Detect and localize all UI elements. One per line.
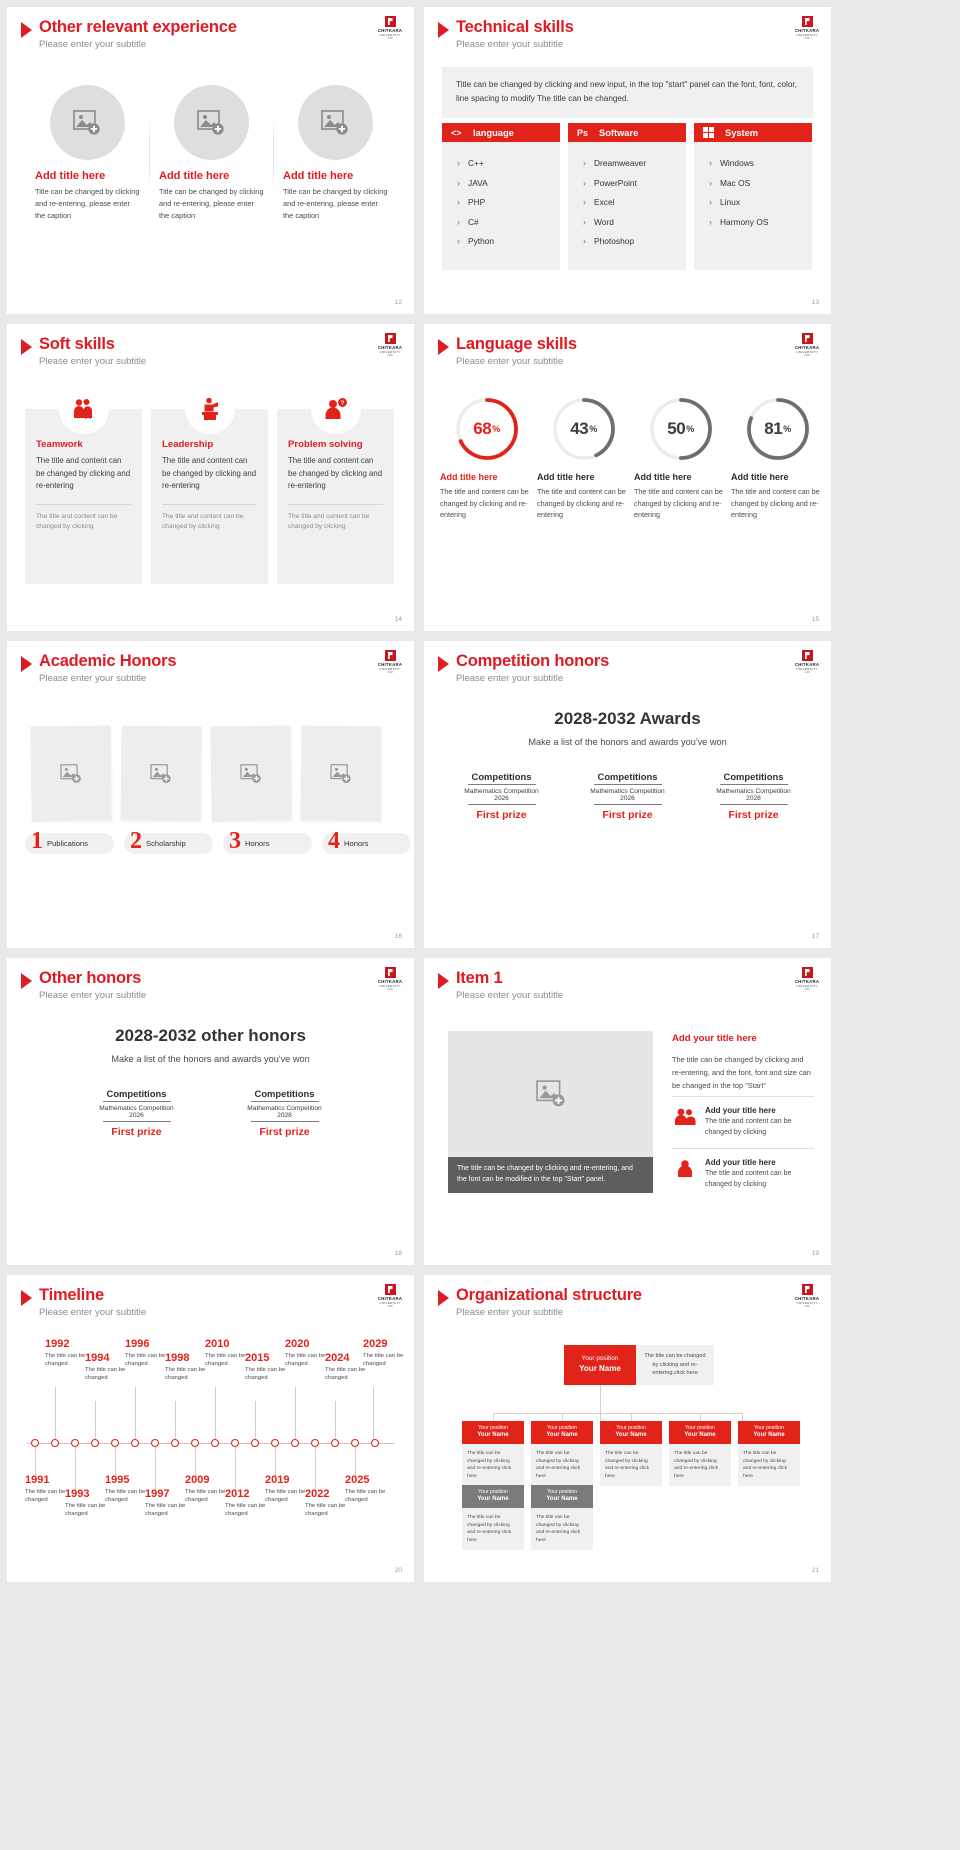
intro-note: Title can be changed by clicking and new… [442,67,813,118]
leadership-icon [188,387,232,431]
award-wreaths: Competitions Mathematics Competition 202… [7,1084,414,1138]
slide-header: Academic Honors Please enter your subtit… [21,652,176,684]
soft-skill-card[interactable]: ? Problem solving The title and content … [277,409,394,584]
divider [251,1101,319,1102]
image-placeholder-icon [321,110,349,136]
slide-item-1[interactable]: Item 1 Please enter your subtitle CHITKA… [424,958,831,1265]
slide-header: Technical skills Please enter your subti… [438,18,574,50]
list-item[interactable]: Word [568,213,686,233]
card-body: The title and content can be changed by … [288,455,383,493]
item-heading: Add title here [537,472,630,482]
svg-text:?: ? [340,401,344,407]
page-number: 12 [395,299,402,306]
logo-line-3: 1998 [377,671,403,674]
org-card[interactable]: Your positionYour Name The title can be … [669,1421,731,1486]
language-item[interactable]: 50% Add title here The title and content… [634,396,727,521]
donut-chart: 68% [454,396,520,462]
org-name: Your Name [546,1496,577,1504]
experience-columns: Add title here Title can be changed by c… [25,85,397,222]
honor-text: Honors [344,839,368,848]
logo-line-3: 1998 [794,37,820,40]
slide-soft-skills[interactable]: Soft skills Please enter your subtitle C… [7,324,414,631]
divider [594,784,662,785]
list-item[interactable]: Mac OS [694,174,812,194]
photo-placeholder[interactable] [298,85,373,160]
page-subtitle: Please enter your subtitle [39,39,237,50]
competition-year: 2028 [226,1112,344,1119]
list-item-desc: The title and content can be changed by … [705,1117,814,1139]
image-placeholder-icon [150,763,172,783]
honor-text: Publications [47,839,88,848]
list-item[interactable]: PHP [442,193,560,213]
page-subtitle: Please enter your subtitle [456,673,609,684]
item-heading: Add title here [731,472,824,482]
university-logo: CHITKARA UNIVERSITY 1998 [377,967,403,991]
language-item[interactable]: 68% Add title here The title and content… [440,396,533,521]
list-item[interactable]: Linux [694,193,812,213]
skill-group-language[interactable]: <> language C++ JAVA PHP C# Python [442,123,560,270]
page-subtitle: Please enter your subtitle [456,1307,642,1318]
logo-line-3: 1998 [377,37,403,40]
divider [594,804,662,805]
divider [36,504,131,505]
arrow-bullet-icon [438,973,449,989]
list-item-title: Add your title here [705,1158,814,1167]
logo-line-3: 1998 [377,1305,403,1308]
list-item-desc: The title and content can be changed by … [705,1169,814,1191]
org-card-header: Your positionYour Name [462,1421,524,1444]
logo-mark-icon [385,16,396,27]
honor-label[interactable]: 2 Scholarship [124,833,213,854]
photo-placeholder[interactable] [210,726,291,822]
donut-chart: 50% [648,396,714,462]
org-position: Your position [547,1489,577,1496]
competition-meta: Mathematics Competition [78,1105,196,1112]
side-body: The title can be changed by clicking and… [672,1054,814,1093]
list-item-title: Add your title here [705,1106,814,1115]
org-level-2: Your positionYour Name The title can be … [462,1485,593,1550]
competition-name: Competitions [695,771,813,782]
logo-mark-icon [802,1284,813,1295]
org-card-body: The title can be changed by clicking and… [462,1444,524,1486]
logo-mark-icon [802,967,813,978]
prize-label: First prize [226,1126,344,1138]
org-name: Your Name [615,1432,646,1440]
honor-number: 3 [229,829,241,853]
divider [720,784,788,785]
image-placeholder-icon [330,763,352,783]
competition-year: 2028 [695,795,813,802]
column-body: Title can be changed by clicking and re-… [283,186,389,222]
logo-line-3: 1998 [794,671,820,674]
divider [251,1121,319,1122]
side-heading: Add your title here [672,1033,757,1044]
image-caption: The title can be changed by clicking and… [448,1157,653,1193]
page-number: 15 [812,616,819,623]
logo-mark-icon [802,16,813,27]
university-logo: CHITKARA UNIVERSITY 1998 [794,650,820,674]
arrow-bullet-icon [21,22,32,38]
windows-icon [703,127,725,138]
item-heading: Add title here [440,472,533,482]
competition-meta: Mathematics Competition [226,1105,344,1112]
honor-text: Scholarship [146,839,186,848]
university-logo: CHITKARA UNIVERSITY 1998 [377,650,403,674]
university-logo: CHITKARA UNIVERSITY 1998 [377,1284,403,1308]
slide-organizational-structure[interactable]: Organizational structure Please enter yo… [424,1275,831,1582]
competition-name: Competitions [443,771,561,782]
photo-placeholder[interactable] [30,726,111,822]
language-item[interactable]: 43% Add title here The title and content… [537,396,630,521]
column-heading: Add title here [35,170,141,182]
page-title: Timeline [39,1286,146,1304]
skill-list: Windows Mac OS Linux Harmony OS [694,142,812,270]
org-card[interactable]: Your positionYour Name The title can be … [600,1421,662,1486]
card-heading: Teamwork [36,439,131,450]
slide-deck: Other relevant experience Please enter y… [0,0,960,1589]
honor-number: 1 [31,829,43,853]
honor-number: 2 [130,829,142,853]
university-logo: CHITKARA UNIVERSITY 1998 [794,1284,820,1308]
image-placeholder-icon [73,110,101,136]
card-heading: Leadership [162,439,257,450]
arrow-bullet-icon [438,1290,449,1306]
slide-academic-honors[interactable]: Academic Honors Please enter your subtit… [7,641,414,948]
org-name: Your Name [579,1364,621,1375]
org-card-header: Your positionYour Name [738,1421,800,1444]
org-note: The title can be changed by clicking and… [636,1345,714,1385]
org-card-header: Your positionYour Name [531,1421,593,1444]
experience-column[interactable]: Add title here Title can be changed by c… [25,85,149,222]
skill-group-header: System [694,123,812,142]
problem-solving-icon: ? [314,387,358,431]
award-wreath[interactable]: Competitions Mathematics Competition 202… [569,767,687,821]
donut-value: 68% [454,396,520,462]
divider [288,504,383,505]
photo-placeholder[interactable] [50,85,125,160]
timeline-chart: 1992The title can be changed 1994The tit… [19,1335,402,1550]
logo-line-3: 1998 [377,354,403,357]
skill-group-software[interactable]: Ps Software Dreamweaver PowerPoint Excel… [568,123,686,270]
university-logo: CHITKARA UNIVERSITY 1998 [377,333,403,357]
item-body: The title and content can be changed by … [440,486,533,521]
competition-meta: Mathematics Competition [569,788,687,795]
soft-skill-card[interactable]: Leadership The title and content can be … [151,409,268,584]
slide-timeline[interactable]: Timeline Please enter your subtitle CHIT… [7,1275,414,1582]
award-wreath[interactable]: Competitions Mathematics Competition 202… [443,767,561,821]
skill-group-label: language [473,128,514,138]
column-body: Title can be changed by clicking and re-… [35,186,141,222]
image-placeholder-icon [536,1080,566,1108]
logo-mark-icon [385,333,396,344]
page-title: Technical skills [456,18,574,36]
university-logo: CHITKARA UNIVERSITY 1998 [377,16,403,40]
org-chart: Your position Your Name The title can be… [438,1333,817,1558]
arrow-bullet-icon [438,339,449,355]
page-number: 18 [395,1250,402,1257]
org-root-card[interactable]: Your position Your Name [564,1345,636,1385]
photo-placeholder[interactable] [448,1031,653,1157]
slide-header: Organizational structure Please enter yo… [438,1286,642,1318]
image-placeholder-icon [60,763,82,783]
org-card[interactable]: Your positionYour Name The title can be … [531,1421,593,1486]
slide-competition-honors[interactable]: Competition honors Please enter your sub… [424,641,831,948]
skill-list: Dreamweaver PowerPoint Excel Word Photos… [568,142,686,270]
skill-group-label: Software [599,128,638,138]
list-item[interactable]: Harmony OS [694,213,812,233]
logo-line-3: 1998 [794,1305,820,1308]
feature-list: Add your title here The title and conten… [672,1096,814,1199]
image-placeholder-icon [240,763,262,783]
arrow-bullet-icon [438,656,449,672]
competition-meta: Mathematics Competition [695,788,813,795]
list-item[interactable]: Python [442,232,560,252]
page-title: Organizational structure [456,1286,642,1304]
timeline-entry[interactable]: 2029The title can be changed [363,1339,414,1369]
photo-placeholder[interactable] [301,726,382,822]
experience-column[interactable]: Add title here Title can be changed by c… [273,85,397,222]
donut-value: 50% [648,396,714,462]
org-name: Your Name [684,1432,715,1440]
item-body: The title and content can be changed by … [537,486,630,521]
honor-number: 4 [328,829,340,853]
page-number: 13 [812,299,819,306]
page-title: Competition honors [456,652,609,670]
competition-meta: Mathematics Competition [443,788,561,795]
prize-label: First prize [695,809,813,821]
org-root[interactable]: Your position Your Name The title can be… [564,1345,714,1385]
skill-groups: <> language C++ JAVA PHP C# Python Ps [442,123,812,270]
donut-chart: 81% [745,396,811,462]
page-title: Other relevant experience [39,18,237,36]
logo-mark-icon [802,333,813,344]
honor-labels: 1 Publications 2 Scholarship 3 Honors 4 … [25,833,411,854]
honor-label[interactable]: 4 Honors [322,833,411,854]
list-item[interactable]: Excel [568,193,686,213]
awards-subtitle: Make a list of the honors and awards you… [7,1054,414,1064]
teamwork-icon [62,387,106,431]
image-placeholder-icon [197,110,225,136]
logo-mark-icon [802,650,813,661]
donut-chart: 43% [551,396,617,462]
skill-group-system[interactable]: System Windows Mac OS Linux Harmony OS [694,123,812,270]
org-position: Your position [478,1489,508,1496]
list-item[interactable]: JAVA [442,174,560,194]
slide-language-skills[interactable]: Language skills Please enter your subtit… [424,324,831,631]
awards-title: 2028-2032 other honors [7,1026,414,1046]
photoshop-icon: Ps [577,128,599,138]
org-position: Your position [547,1425,577,1432]
logo-line-3: 1998 [377,988,403,991]
logo-mark-icon [385,967,396,978]
org-card[interactable]: Your positionYour Name The title can be … [462,1485,524,1550]
university-logo: CHITKARA UNIVERSITY 1998 [794,333,820,357]
honor-label[interactable]: 3 Honors [223,833,312,854]
org-card-body: The title can be changed by clicking and… [669,1444,731,1486]
page-subtitle: Please enter your subtitle [39,990,146,1001]
divider [468,784,536,785]
org-card-body: The title can be changed by clicking and… [600,1444,662,1486]
competition-year: 2026 [78,1112,196,1119]
slide-header: Other honors Please enter your subtitle [21,969,146,1001]
divider [103,1121,171,1122]
page-title: Language skills [456,335,577,353]
awards-title: 2028-2032 Awards [424,709,831,729]
org-card-body: The title can be changed by clicking and… [531,1508,593,1550]
org-name: Your Name [753,1432,784,1440]
org-position: Your position [616,1425,646,1432]
soft-skill-cards: Teamwork The title and content can be ch… [25,409,394,584]
award-wreath[interactable]: Competitions Mathematics Competition 202… [226,1084,344,1138]
two-users-icon [672,1106,698,1139]
slide-header: Soft skills Please enter your subtitle [21,335,146,367]
page-subtitle: Please enter your subtitle [456,39,574,50]
card-body: The title and content can be changed by … [162,455,257,493]
competition-name: Competitions [569,771,687,782]
slide-header: Timeline Please enter your subtitle [21,1286,146,1318]
award-wreath[interactable]: Competitions Mathematics Competition 202… [78,1084,196,1138]
arrow-bullet-icon [21,973,32,989]
award-wreath[interactable]: Competitions Mathematics Competition 202… [695,767,813,821]
page-number: 17 [812,933,819,940]
soft-skill-card[interactable]: Teamwork The title and content can be ch… [25,409,142,584]
org-card-header: Your positionYour Name [669,1421,731,1444]
page-subtitle: Please enter your subtitle [39,673,176,684]
card-heading: Problem solving [288,439,383,450]
slide-other-honors[interactable]: Other honors Please enter your subtitle … [7,958,414,1265]
org-card[interactable]: Your positionYour Name The title can be … [462,1421,524,1486]
experience-column[interactable]: Add title here Title can be changed by c… [149,85,273,222]
timeline-entry[interactable]: 2025The title can be changed [345,1475,397,1505]
logo-mark-icon [385,1284,396,1295]
org-card-body: The title can be changed by clicking and… [462,1508,524,1550]
award-wreaths: Competitions Mathematics Competition 202… [424,767,831,821]
org-level-1: Your positionYour Name The title can be … [462,1421,800,1486]
card-subtext: The title and content can be changed by … [36,512,131,533]
list-item[interactable]: Add your title here The title and conten… [672,1148,814,1200]
photo-placeholder[interactable] [121,726,202,822]
logo-line-3: 1998 [794,988,820,991]
org-position: Your position [582,1355,619,1364]
org-name: Your Name [546,1432,577,1440]
language-item[interactable]: 81% Add title here The title and content… [731,396,824,521]
slide-header: Competition honors Please enter your sub… [438,652,609,684]
org-name: Your Name [477,1432,508,1440]
list-item[interactable]: Dreamweaver [568,154,686,174]
item-heading: Add title here [634,472,727,482]
competition-name: Competitions [78,1088,196,1099]
page-number: 16 [395,933,402,940]
page-subtitle: Please enter your subtitle [39,1307,146,1318]
org-card-body: The title can be changed by clicking and… [531,1444,593,1486]
org-card-header: Your positionYour Name [600,1421,662,1444]
competition-year: 2026 [569,795,687,802]
list-item[interactable]: Windows [694,154,812,174]
page-title: Item 1 [456,969,563,987]
skill-list: C++ JAVA PHP C# Python [442,142,560,270]
page-title: Other honors [39,969,146,987]
competition-name: Competitions [226,1088,344,1099]
arrow-bullet-icon [21,339,32,355]
logo-line-3: 1998 [794,354,820,357]
university-logo: CHITKARA UNIVERSITY 1998 [794,16,820,40]
divider [720,804,788,805]
divider [162,504,257,505]
page-subtitle: Please enter your subtitle [456,356,577,367]
user-icon [672,1158,698,1191]
page-number: 14 [395,616,402,623]
item-body: The title and content can be changed by … [634,486,727,521]
university-logo: CHITKARA UNIVERSITY 1998 [794,967,820,991]
org-card[interactable]: Your positionYour Name The title can be … [738,1421,800,1486]
column-heading: Add title here [283,170,389,182]
org-card-header: Your positionYour Name [462,1485,524,1508]
column-body: Title can be changed by clicking and re-… [159,186,265,222]
arrow-bullet-icon [21,656,32,672]
divider [468,804,536,805]
list-item[interactable]: C# [442,213,560,233]
item-body: The title and content can be changed by … [731,486,824,521]
skill-group-header: <> language [442,123,560,142]
list-item[interactable]: Add your title here The title and conten… [672,1096,814,1148]
card-subtext: The title and content can be changed by … [162,512,257,533]
org-position: Your position [754,1425,784,1432]
language-donuts: 68% Add title here The title and content… [440,396,824,521]
slide-header: Language skills Please enter your subtit… [438,335,577,367]
page-subtitle: Please enter your subtitle [456,990,563,1001]
org-card-body: The title can be changed by clicking and… [738,1444,800,1486]
org-card-header: Your positionYour Name [531,1485,593,1508]
honor-label[interactable]: 1 Publications [25,833,114,854]
arrow-bullet-icon [438,22,449,38]
photo-placeholder[interactable] [174,85,249,160]
arrow-bullet-icon [21,1290,32,1306]
column-heading: Add title here [159,170,265,182]
prize-label: First prize [78,1126,196,1138]
skill-group-label: System [725,128,758,138]
page-number: 21 [812,1567,819,1574]
org-position: Your position [685,1425,715,1432]
list-item[interactable]: C++ [442,154,560,174]
page-title: Academic Honors [39,652,176,670]
card-subtext: The title and content can be changed by … [288,512,383,533]
competition-year: 2026 [443,795,561,802]
donut-value: 81% [745,396,811,462]
honor-text: Honors [245,839,269,848]
org-position: Your position [478,1425,508,1432]
prize-label: First prize [569,809,687,821]
card-body: The title and content can be changed by … [36,455,131,493]
slide-other-relevant-experience[interactable]: Other relevant experience Please enter y… [7,7,414,314]
org-name: Your Name [477,1496,508,1504]
org-card[interactable]: Your positionYour Name The title can be … [531,1485,593,1550]
honor-photos [31,726,381,821]
slide-technical-skills[interactable]: Technical skills Please enter your subti… [424,7,831,314]
skill-group-header: Ps Software [568,123,686,142]
list-item[interactable]: Photoshop [568,232,686,252]
slide-header: Item 1 Please enter your subtitle [438,969,563,1001]
list-item[interactable]: PowerPoint [568,174,686,194]
divider [103,1101,171,1102]
page-number: 20 [395,1567,402,1574]
logo-mark-icon [385,650,396,661]
prize-label: First prize [443,809,561,821]
code-icon: <> [451,128,473,138]
donut-value: 43% [551,396,617,462]
awards-subtitle: Make a list of the honors and awards you… [424,737,831,747]
page-title: Soft skills [39,335,146,353]
page-subtitle: Please enter your subtitle [39,356,146,367]
